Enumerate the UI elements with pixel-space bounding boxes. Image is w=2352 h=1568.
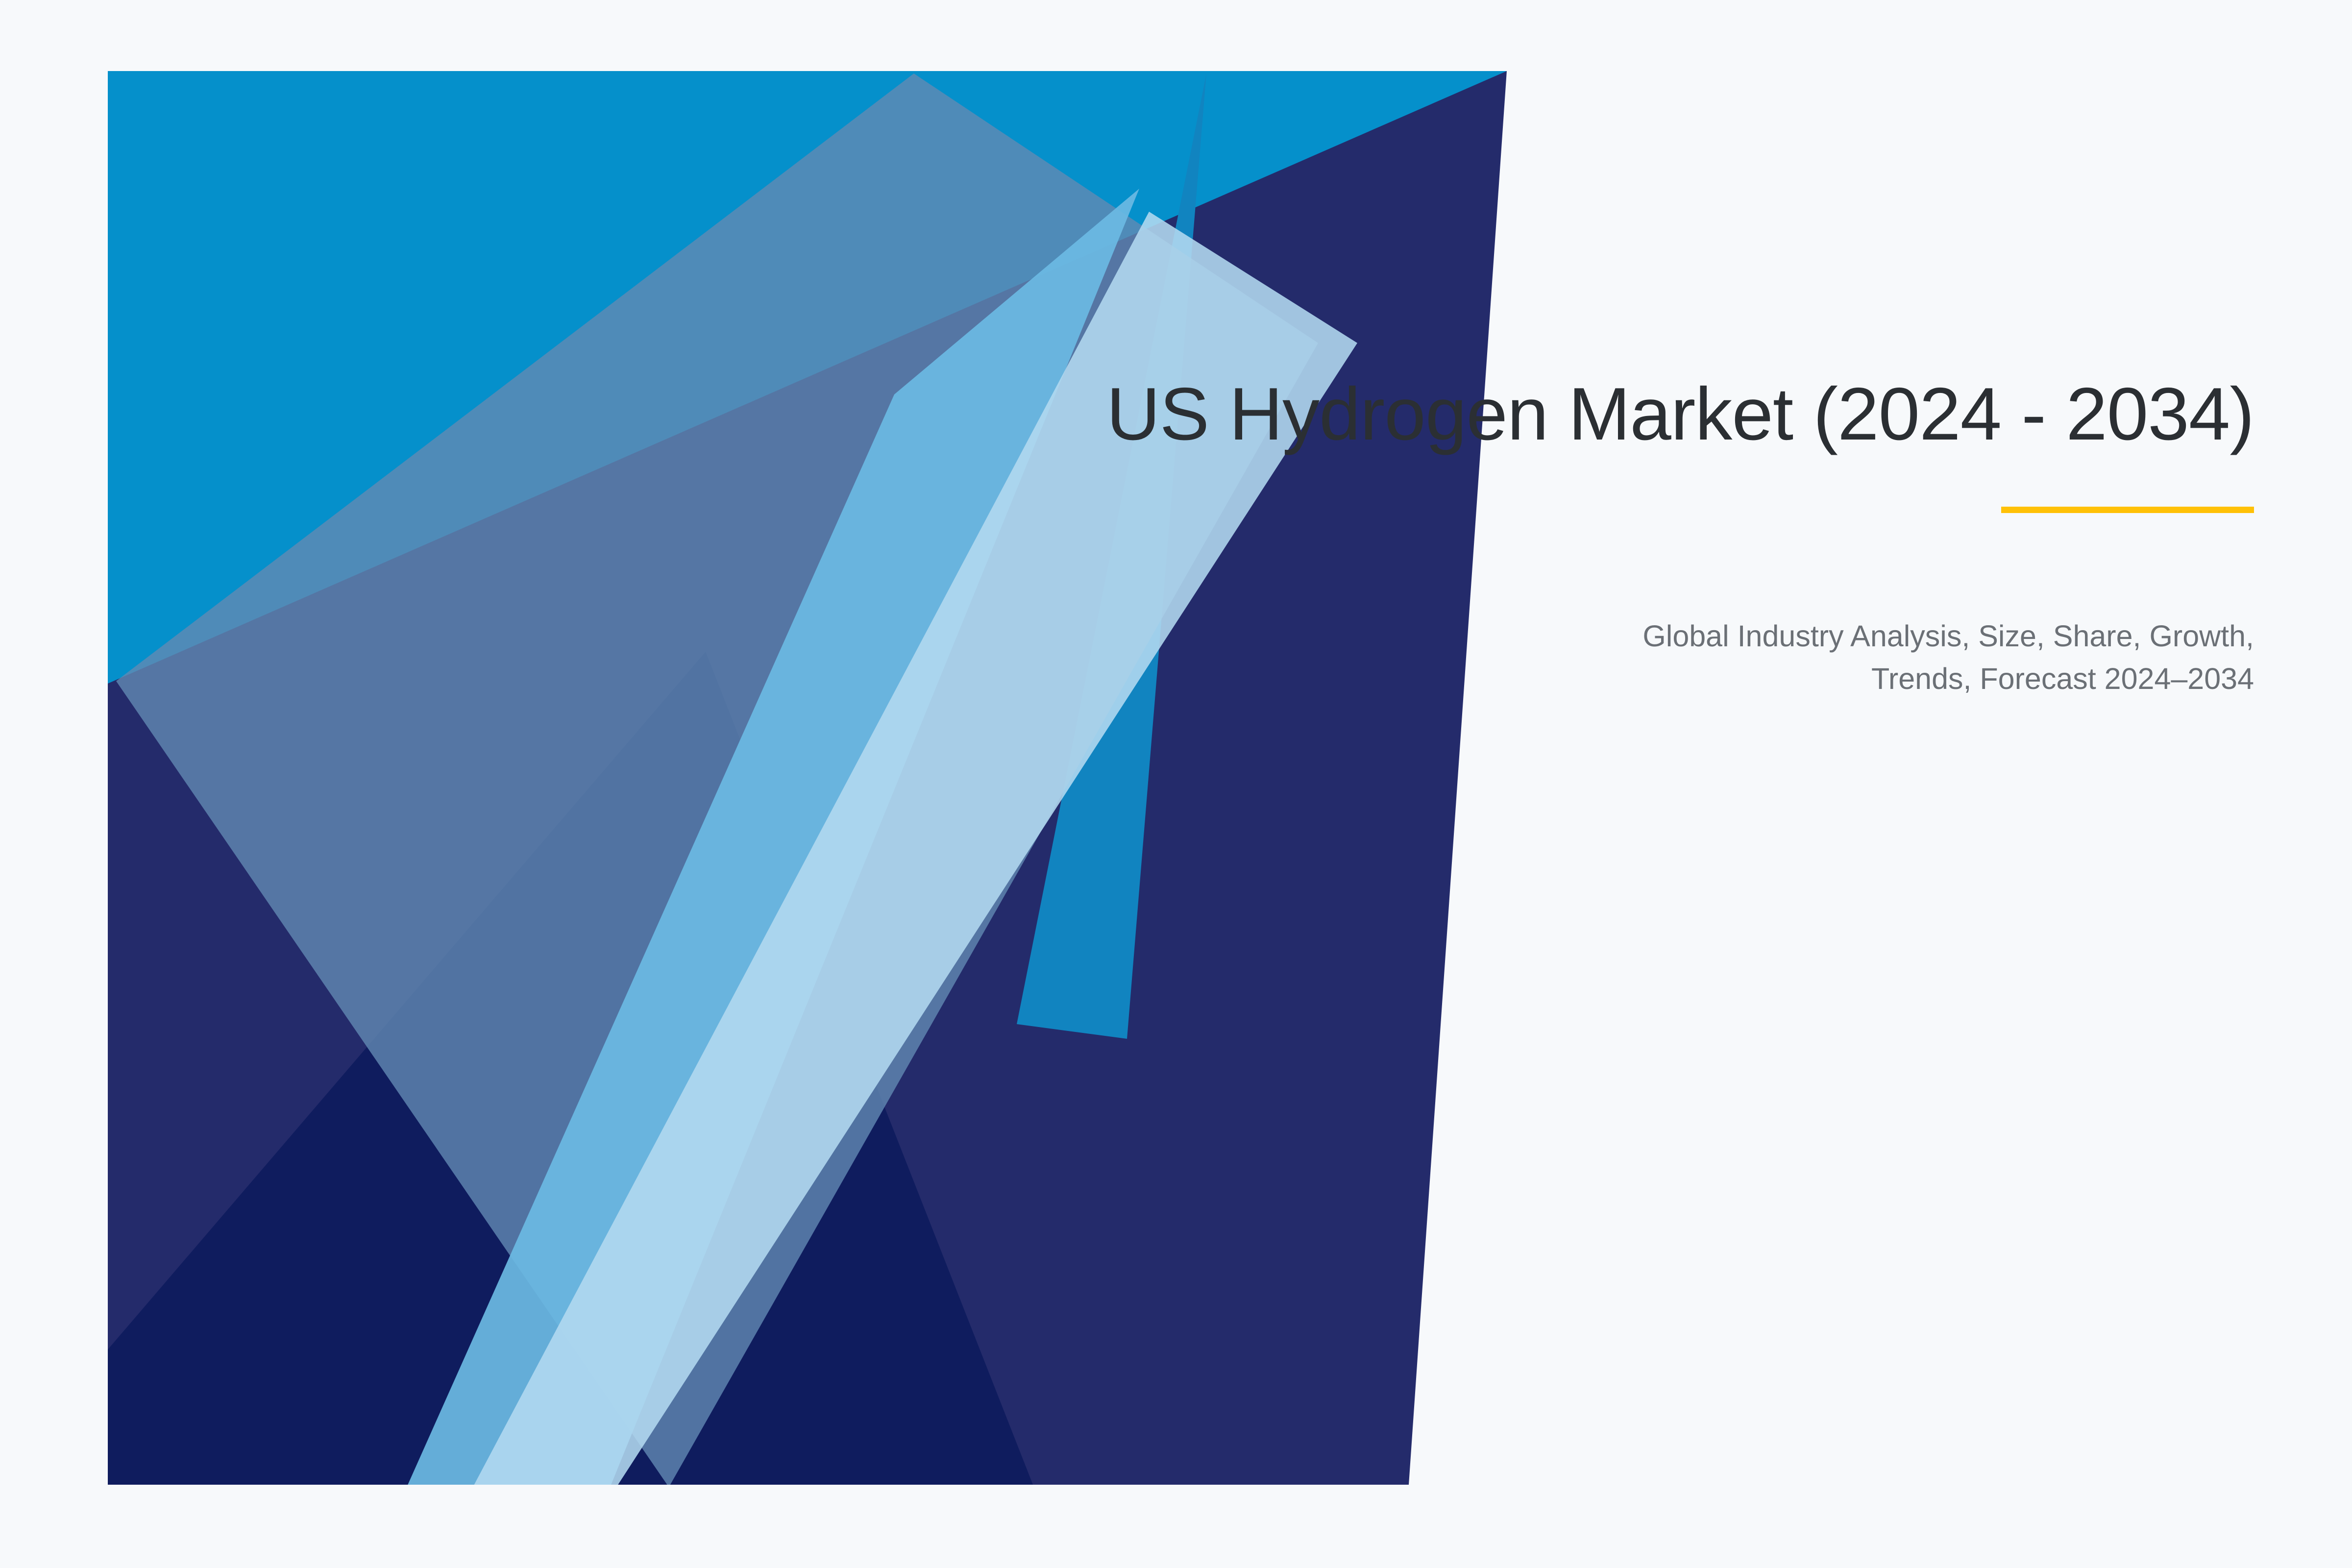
accent-rule-container: [931, 507, 2254, 513]
report-cover: US Hydrogen Market (2024 - 2034) Global …: [0, 0, 2352, 1568]
page-subtitle: Global Industry Analysis, Size, Share, G…: [1617, 615, 2254, 700]
abstract-polygon-graphic: [0, 0, 2352, 1568]
cover-text-block: US Hydrogen Market (2024 - 2034) Global …: [931, 372, 2254, 730]
accent-rule: [2001, 507, 2254, 513]
page-title: US Hydrogen Market (2024 - 2034): [931, 372, 2254, 456]
